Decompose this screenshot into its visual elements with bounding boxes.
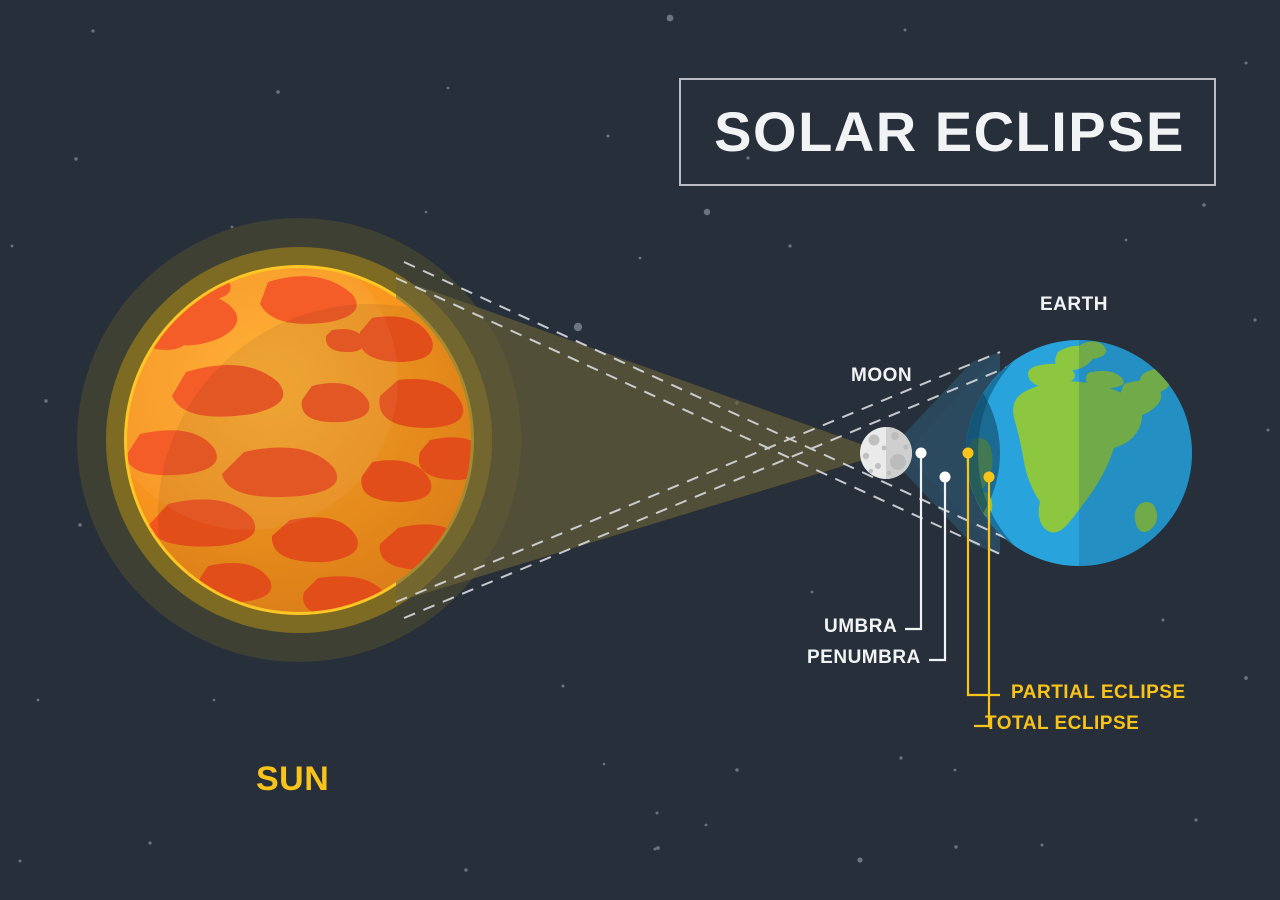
label-earth: EARTH xyxy=(1040,294,1108,316)
penumbra-dot xyxy=(940,472,951,483)
label-umbra: UMBRA xyxy=(824,616,897,638)
page-title: SOLAR ECLIPSE xyxy=(681,80,1218,188)
label-moon: MOON xyxy=(851,365,912,387)
label-sun: SUN xyxy=(256,760,329,799)
label-partial-eclipse: PARTIAL ECLIPSE xyxy=(1011,682,1186,704)
eclipse-infographic: SOLAR ECLIPSE SUN EARTH MOON UMBRA PENUM… xyxy=(0,0,1280,900)
title-box: SOLAR ECLIPSE xyxy=(679,78,1216,186)
partial-eclipse-dot xyxy=(963,448,974,459)
label-penumbra: PENUMBRA xyxy=(807,647,921,669)
total-eclipse-dot xyxy=(984,472,995,483)
umbra-dot xyxy=(916,448,927,459)
label-total-eclipse: TOTAL ECLIPSE xyxy=(985,713,1139,735)
